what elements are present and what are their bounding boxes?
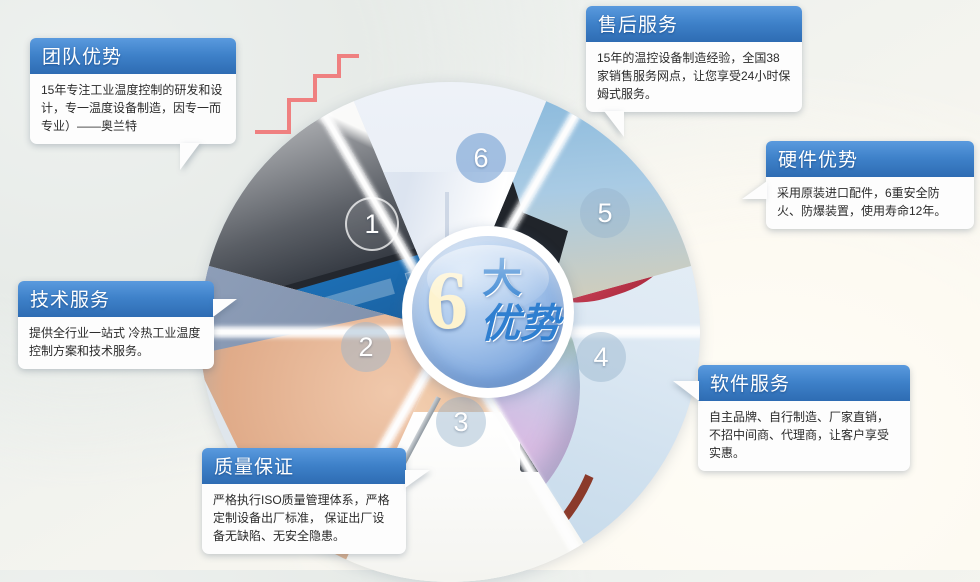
wedge-number-4[interactable]: 4 [576, 332, 626, 382]
callout-tail-team [180, 143, 200, 170]
red-growth-chart [255, 52, 385, 138]
callout-title-technical: 技术服务 [18, 281, 214, 317]
center-hub: 6 大 优势 [402, 226, 574, 398]
callout-tail-hardware [742, 181, 767, 199]
callout-tail-software [673, 381, 699, 401]
callout-title-after-sales: 售后服务 [586, 6, 802, 42]
callout-title-quality: 质量保证 [202, 448, 406, 484]
callout-team-advantage[interactable]: 团队优势 15年专注工业温度控制的研发和设计，专一温度设备制造，因专一而专业）—… [30, 38, 236, 144]
wedge-number-2[interactable]: 2 [341, 322, 391, 372]
callout-body-team: 15年专注工业温度控制的研发和设计，专一温度设备制造，因专一而专业）——奥兰特 [30, 74, 236, 144]
center-number: 6 [426, 262, 468, 340]
callout-quality-assurance[interactable]: 质量保证 严格执行ISO质量管理体系，严格定制设备出厂标准， 保证出厂设备无缺陷… [202, 448, 406, 554]
callout-tail-quality [405, 470, 430, 488]
callout-body-hardware: 采用原装进口配件，6重安全防火、防爆装置，使用寿命12年。 [766, 177, 974, 229]
center-label-top: 大 [482, 260, 522, 298]
callout-title-software: 软件服务 [698, 365, 910, 401]
center-label-bottom: 优势 [480, 304, 560, 344]
wedge-number-3[interactable]: 3 [436, 397, 486, 447]
callout-body-technical: 提供全行业一站式 冷热工业温度控制方案和技术服务。 [18, 317, 214, 369]
center-hub-disc: 6 大 优势 [412, 236, 564, 388]
callout-body-quality: 严格执行ISO质量管理体系，严格定制设备出厂标准， 保证出厂设备无缺陷、无安全隐… [202, 484, 406, 554]
callout-body-after-sales: 15年的温控设备制造经验，全国38家销售服务网点，让您享受24小时保姆式服务。 [586, 42, 802, 112]
callout-after-sales-service[interactable]: 售后服务 15年的温控设备制造经验，全国38家销售服务网点，让您享受24小时保姆… [586, 6, 802, 112]
callout-body-software: 自主品牌、自行制造、厂家直销，不招中间商、代理商，让客户享受实惠。 [698, 401, 910, 471]
wedge-number-5[interactable]: 5 [580, 188, 630, 238]
callout-title-hardware: 硬件优势 [766, 141, 974, 177]
callout-tail-after-sales [604, 111, 624, 137]
callout-technical-service[interactable]: 技术服务 提供全行业一站式 冷热工业温度控制方案和技术服务。 [18, 281, 214, 369]
wedge-number-6[interactable]: 6 [456, 133, 506, 183]
callout-software-service[interactable]: 软件服务 自主品牌、自行制造、厂家直销，不招中间商、代理商，让客户享受实惠。 [698, 365, 910, 471]
callout-title-team: 团队优势 [30, 38, 236, 74]
callout-tail-technical [213, 299, 237, 317]
wedge-number-1[interactable]: 1 [345, 197, 399, 251]
callout-hardware-advantage[interactable]: 硬件优势 采用原装进口配件，6重安全防火、防爆装置，使用寿命12年。 [766, 141, 974, 229]
